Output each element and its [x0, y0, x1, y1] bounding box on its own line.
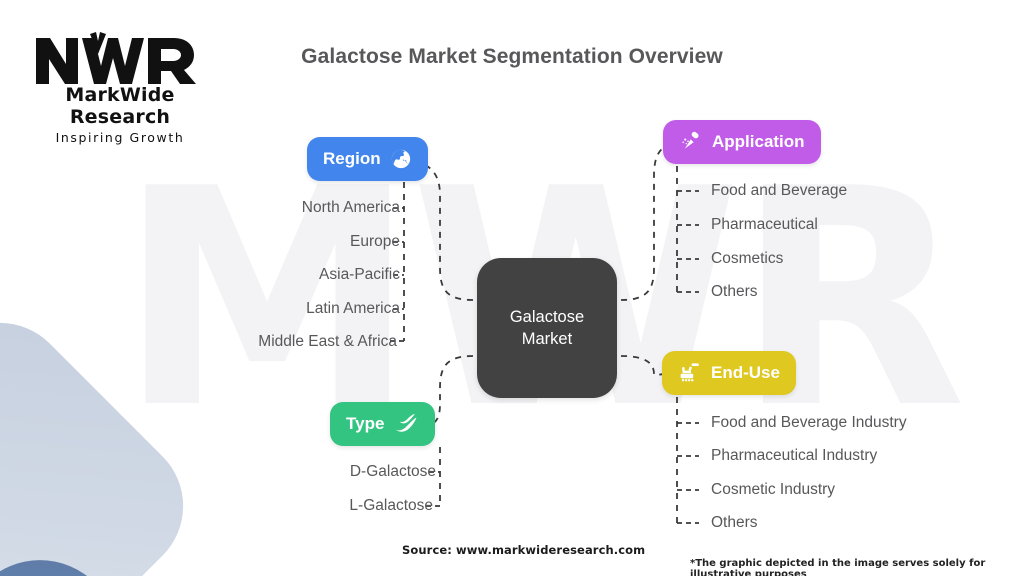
leaf-region-2: Asia-Pacific — [319, 267, 400, 283]
infographic-canvas: MWR MarkWide Research Inspiring Growth G… — [0, 0, 1024, 576]
branch-label-region: Region — [323, 149, 381, 169]
wire-center-enduse — [621, 356, 668, 375]
center-node-label: Galactose Market — [510, 306, 584, 351]
leaf-type-1: L-Galactose — [349, 498, 433, 514]
molecule-icon — [393, 413, 419, 435]
center-node-galactose-market[interactable]: Galactose Market — [477, 258, 617, 398]
wire-center-region — [406, 161, 473, 300]
branch-label-type: Type — [346, 414, 384, 434]
shaker-icon — [679, 130, 703, 154]
leaf-region-0: North America — [302, 200, 400, 216]
leaf-enduse-3: Others — [711, 515, 758, 531]
source-attribution: Source: www.markwideresearch.com — [402, 543, 645, 557]
leaf-application-2: Cosmetics — [711, 251, 783, 267]
globe-icon — [390, 148, 412, 170]
center-node-line2: Market — [510, 328, 584, 350]
leaf-enduse-1: Pharmaceutical Industry — [711, 448, 877, 464]
branch-pill-application[interactable]: Application — [663, 120, 821, 164]
center-node-line1: Galactose — [510, 306, 584, 328]
branch-pill-type[interactable]: Type — [330, 402, 435, 446]
branch-label-application: Application — [712, 132, 805, 152]
leaf-type-0: D-Galactose — [350, 464, 436, 480]
leaf-application-1: Pharmaceutical — [711, 217, 818, 233]
disclaimer-note: *The graphic depicted in the image serve… — [690, 558, 1024, 576]
leaf-enduse-0: Food and Beverage Industry — [711, 415, 907, 431]
branch-pill-region[interactable]: Region — [307, 137, 428, 181]
leaf-region-4: Middle East & Africa — [258, 334, 397, 350]
leaf-application-0: Food and Beverage — [711, 183, 847, 199]
wire-center-application — [621, 144, 678, 300]
branch-pill-enduse[interactable]: End-Use — [662, 351, 796, 395]
leaf-enduse-2: Cosmetic Industry — [711, 482, 835, 498]
leaf-region-3: Latin America — [306, 301, 400, 317]
leaf-application-3: Others — [711, 284, 758, 300]
factory-robot-icon — [678, 361, 702, 385]
leaf-region-1: Europe — [350, 234, 400, 250]
branch-label-enduse: End-Use — [711, 363, 780, 383]
